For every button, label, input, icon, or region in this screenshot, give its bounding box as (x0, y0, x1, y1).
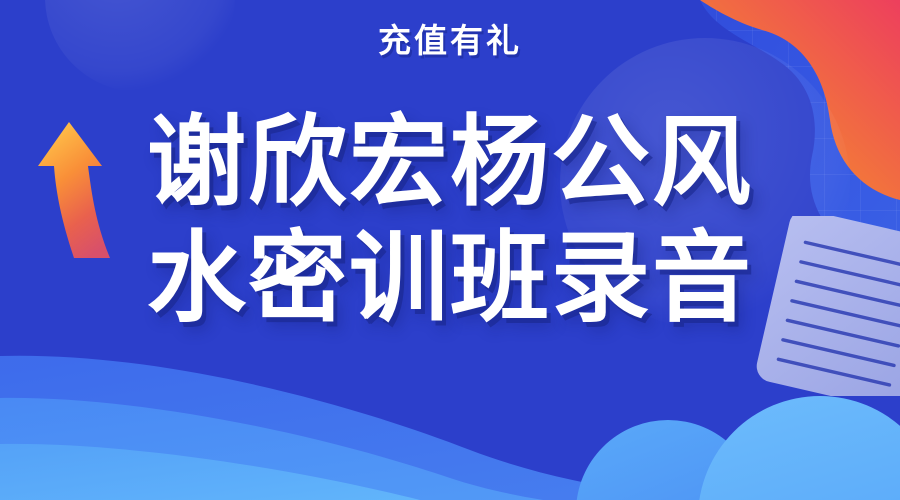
ribbon-label: 充值有礼 (378, 14, 522, 62)
headline-line-2: 水密训班录音 (0, 220, 900, 336)
page-title: 谢欣宏杨公风 水密训班录音 (0, 104, 900, 336)
ribbon-banner: 充值有礼 (0, 14, 900, 62)
promo-poster: 充值有礼 谢欣宏杨公风 水密训班录音 (0, 0, 900, 500)
headline-line-1: 谢欣宏杨公风 (0, 104, 900, 220)
